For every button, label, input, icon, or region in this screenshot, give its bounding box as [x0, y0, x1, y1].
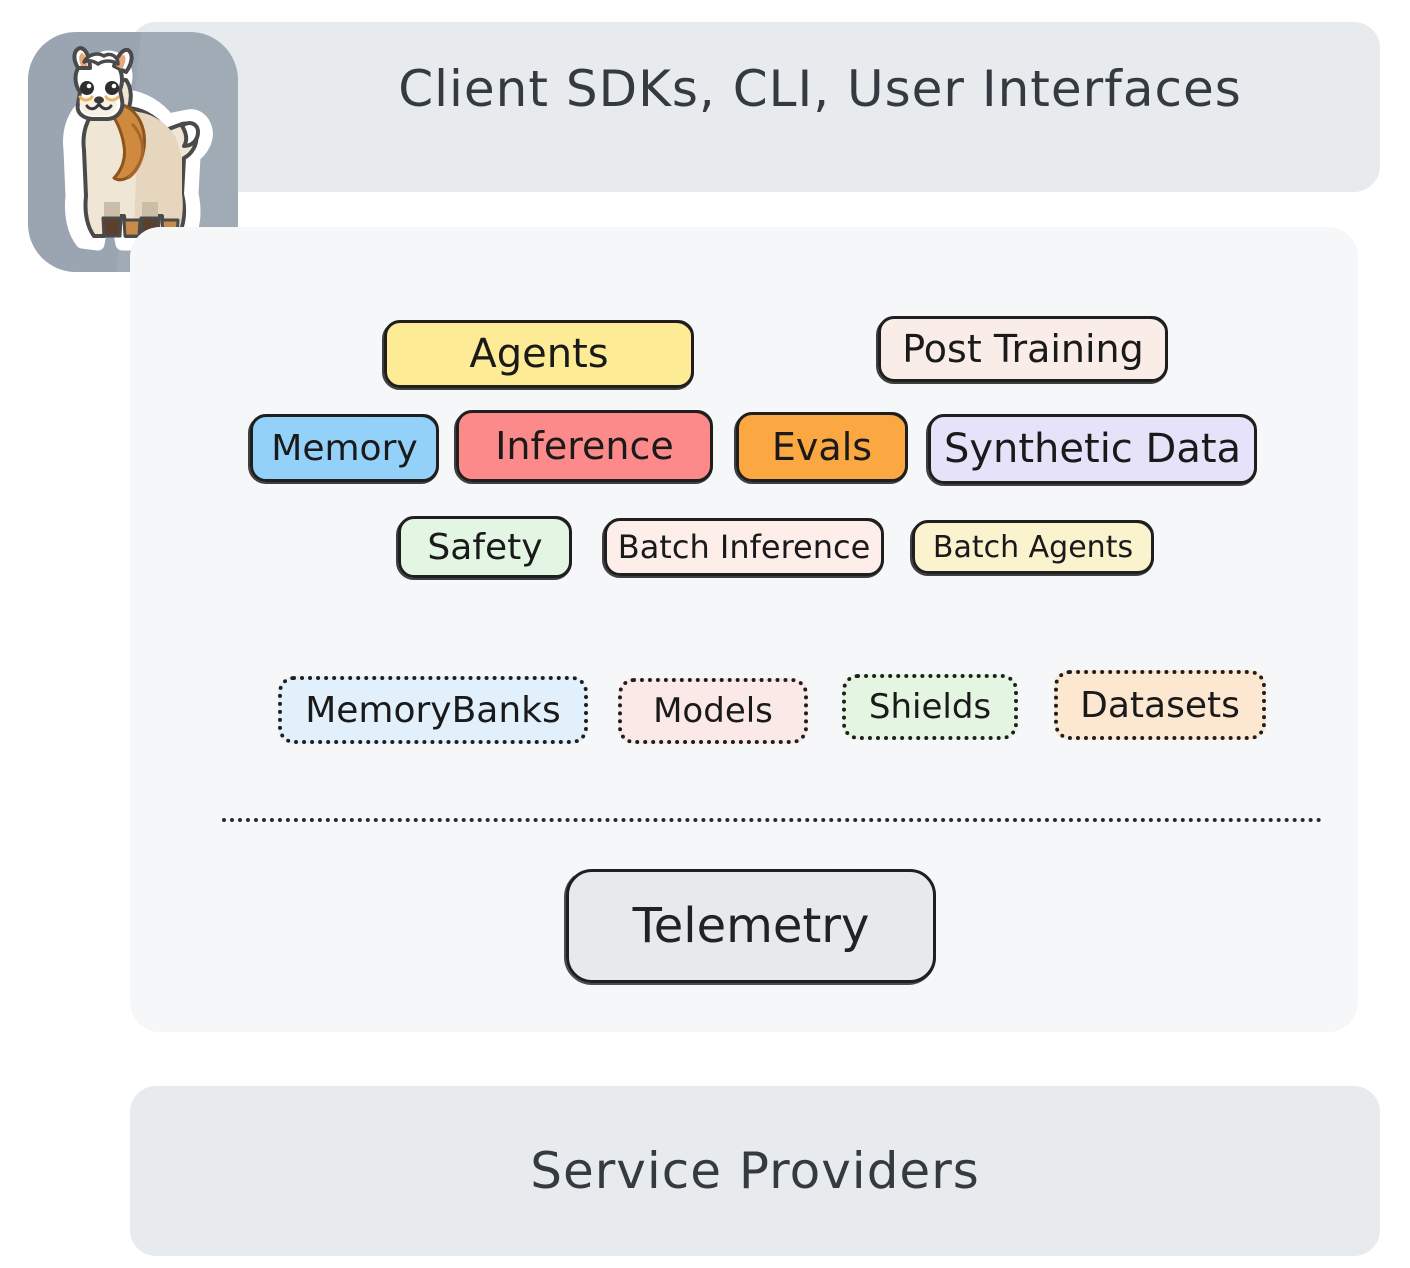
- api-box-memory[interactable]: Memory: [250, 414, 439, 482]
- resource-box-label: MemoryBanks: [305, 690, 561, 731]
- resource-box-models[interactable]: Models: [618, 678, 808, 744]
- api-box-safety[interactable]: Safety: [398, 516, 572, 578]
- api-box-label: Inference: [495, 424, 674, 468]
- service-providers-band: Service Providers: [130, 1086, 1380, 1256]
- resource-box-datasets[interactable]: Datasets: [1054, 670, 1266, 740]
- resource-box-label: Datasets: [1080, 685, 1240, 726]
- resource-box-label: Models: [653, 691, 773, 731]
- api-box-label: Memory: [271, 428, 417, 469]
- service-providers-label: Service Providers: [530, 1142, 980, 1200]
- architecture-diagram: Client SDKs, CLI, User Interfaces: [0, 0, 1410, 1268]
- api-box-label: Agents: [469, 331, 608, 377]
- api-box-label: Safety: [427, 527, 542, 568]
- api-box-label: Batch Inference: [618, 528, 871, 566]
- api-box-label: Batch Agents: [933, 530, 1133, 565]
- api-box-label: Synthetic Data: [944, 426, 1241, 472]
- api-box-evals[interactable]: Evals: [736, 412, 908, 482]
- telemetry-box[interactable]: Telemetry: [566, 869, 936, 983]
- resource-box-label: Shields: [869, 687, 991, 727]
- api-box-synthetic-data[interactable]: Synthetic Data: [928, 414, 1257, 484]
- api-box-agents[interactable]: Agents: [384, 320, 694, 388]
- resource-box-shields[interactable]: Shields: [842, 674, 1018, 740]
- api-box-batch-inference[interactable]: Batch Inference: [604, 518, 884, 576]
- resource-box-memorybanks[interactable]: MemoryBanks: [278, 676, 588, 744]
- telemetry-label: Telemetry: [633, 898, 870, 954]
- api-box-label: Post Training: [902, 327, 1144, 371]
- client-layer-label: Client SDKs, CLI, User Interfaces: [260, 60, 1380, 118]
- api-box-batch-agents[interactable]: Batch Agents: [912, 520, 1154, 574]
- api-box-inference[interactable]: Inference: [456, 410, 713, 482]
- api-box-post-training[interactable]: Post Training: [878, 316, 1168, 382]
- api-box-label: Evals: [772, 425, 872, 469]
- section-divider: [222, 818, 1322, 822]
